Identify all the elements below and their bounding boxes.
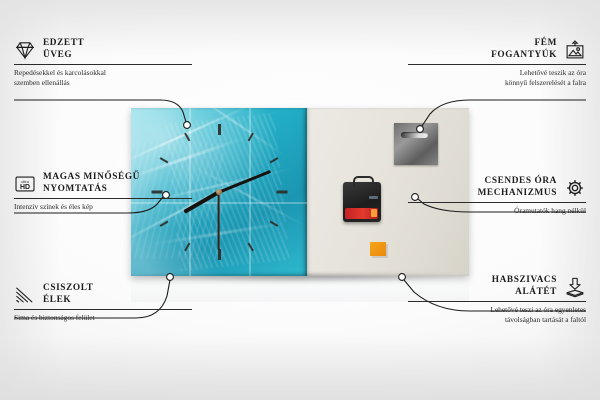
callout-title: FÉM FOGANTYÚK [491,38,557,61]
callout-divider [14,64,192,65]
diamond-icon [14,39,36,61]
svg-text:HD: HD [20,184,30,191]
callout-title: CSENDES ÓRA MECHANIZMUS [478,176,557,199]
callout-divider [14,309,192,310]
clock-tick [276,191,287,194]
callout-title-line2: MECHANIZMUS [478,188,557,198]
callout-description: Lehetővé teszik az óra könnyű felszerelé… [408,68,586,87]
callout-header: EDZETT ÜVEG [14,38,192,61]
callout-title: MAGAS MINŐSÉGŰ NYOMTATÁS [43,172,140,195]
callout-tempered-glass: EDZETT ÜVEG Repedésekkel és karcolásokka… [14,38,192,87]
callout-title-line1: MAGAS MINŐSÉGŰ [43,172,140,182]
clock-tick [218,249,221,260]
callout-divider [14,198,192,199]
callout-desc-line1: Óramutatók hang nélkül [514,206,586,215]
callout-desc-line2: könnyű felszerelését a falra [505,78,586,87]
callout-polished-edges: CSISZOLT ÉLEK Sima és biztonságos felüle… [14,283,192,323]
callout-desc-line1: Repedésekkel és karcolásokkal [14,68,106,77]
ultra-hd-icon: ultra HD [14,173,36,195]
callout-description: Repedésekkel és karcolásokkal szemben el… [14,68,192,87]
callout-title-line2: ÜVEG [43,50,72,60]
callout-title: HABSZIVACS ALÁTÉT [492,275,557,298]
callout-desc-line1: Sima és biztonságos felület [14,313,95,322]
gear-icon [564,177,586,199]
callout-divider [408,64,586,65]
callout-title-line1: FÉM [535,38,557,48]
callout-divider [408,301,586,302]
metal-hanger-plate [394,123,438,165]
callout-foam-spacer: HABSZIVACS ALÁTÉT Lehetővé teszi az óra … [408,275,586,324]
callout-header: ultra HD MAGAS MINŐSÉGŰ NYOMTATÁS [14,172,192,195]
callout-title: CSISZOLT ÉLEK [43,283,93,306]
clock-tick [218,124,221,135]
callout-header: FÉM FOGANTYÚK [408,38,586,61]
callout-description: Sima és biztonságos felület [14,313,192,323]
callout-divider [408,202,586,203]
callout-title-line2: ALÁTÉT [515,287,557,297]
infographic-canvas: EDZETT ÜVEG Repedésekkel és karcolásokka… [0,0,600,400]
movement-tab [369,196,378,199]
callout-title-line1: CSENDES ÓRA [485,176,557,186]
callout-description: Óramutatók hang nélkül [408,206,586,216]
callout-title-line1: HABSZIVACS [492,275,557,285]
callout-desc-line2: szemben ellenállás [14,78,70,87]
callout-high-quality-print: ultra HD MAGAS MINŐSÉGŰ NYOMTATÁS Intenz… [14,172,192,212]
press-down-pad-icon [564,276,586,298]
polished-edge-icon [14,284,36,306]
clock-second-hand [218,192,220,250]
callout-title-line1: EDZETT [43,38,84,48]
battery-label [345,208,378,219]
picture-hanger-icon [564,39,586,61]
callout-title: EDZETT ÜVEG [43,38,84,61]
clock-movement-box [343,182,381,222]
callout-header: HABSZIVACS ALÁTÉT [408,275,586,298]
callout-title-line1: CSISZOLT [43,283,93,293]
callout-quiet-mechanism: CSENDES ÓRA MECHANIZMUS Óramutatók hang … [408,176,586,216]
callout-header: CSENDES ÓRA MECHANIZMUS [408,176,586,199]
foam-spacer-pad [370,242,386,256]
callout-desc-line1: Intenzív színek és éles kép [14,202,93,211]
callout-header: CSISZOLT ÉLEK [14,283,192,306]
hanger-slot [401,132,428,138]
callout-title-line2: NYOMTATÁS [43,184,107,194]
callout-description: Intenzív színek és éles kép [14,202,192,212]
callout-desc-line1: Lehetővé teszik az óra [520,68,586,77]
clock-center-cap [216,189,222,195]
hanger-loop [353,176,374,187]
callout-desc-line2: távolságban tartását a faltól [505,315,586,324]
callout-description: Lehetővé teszi az óra egyenletes távolsá… [408,305,586,324]
callout-title-line2: ÉLEK [43,295,71,305]
callout-desc-line1: Lehetővé teszi az óra egyenletes [490,305,586,314]
callout-title-line2: FOGANTYÚK [491,50,557,60]
callout-metal-handles: FÉM FOGANTYÚK Lehetővé teszik az óra kön… [408,38,586,87]
